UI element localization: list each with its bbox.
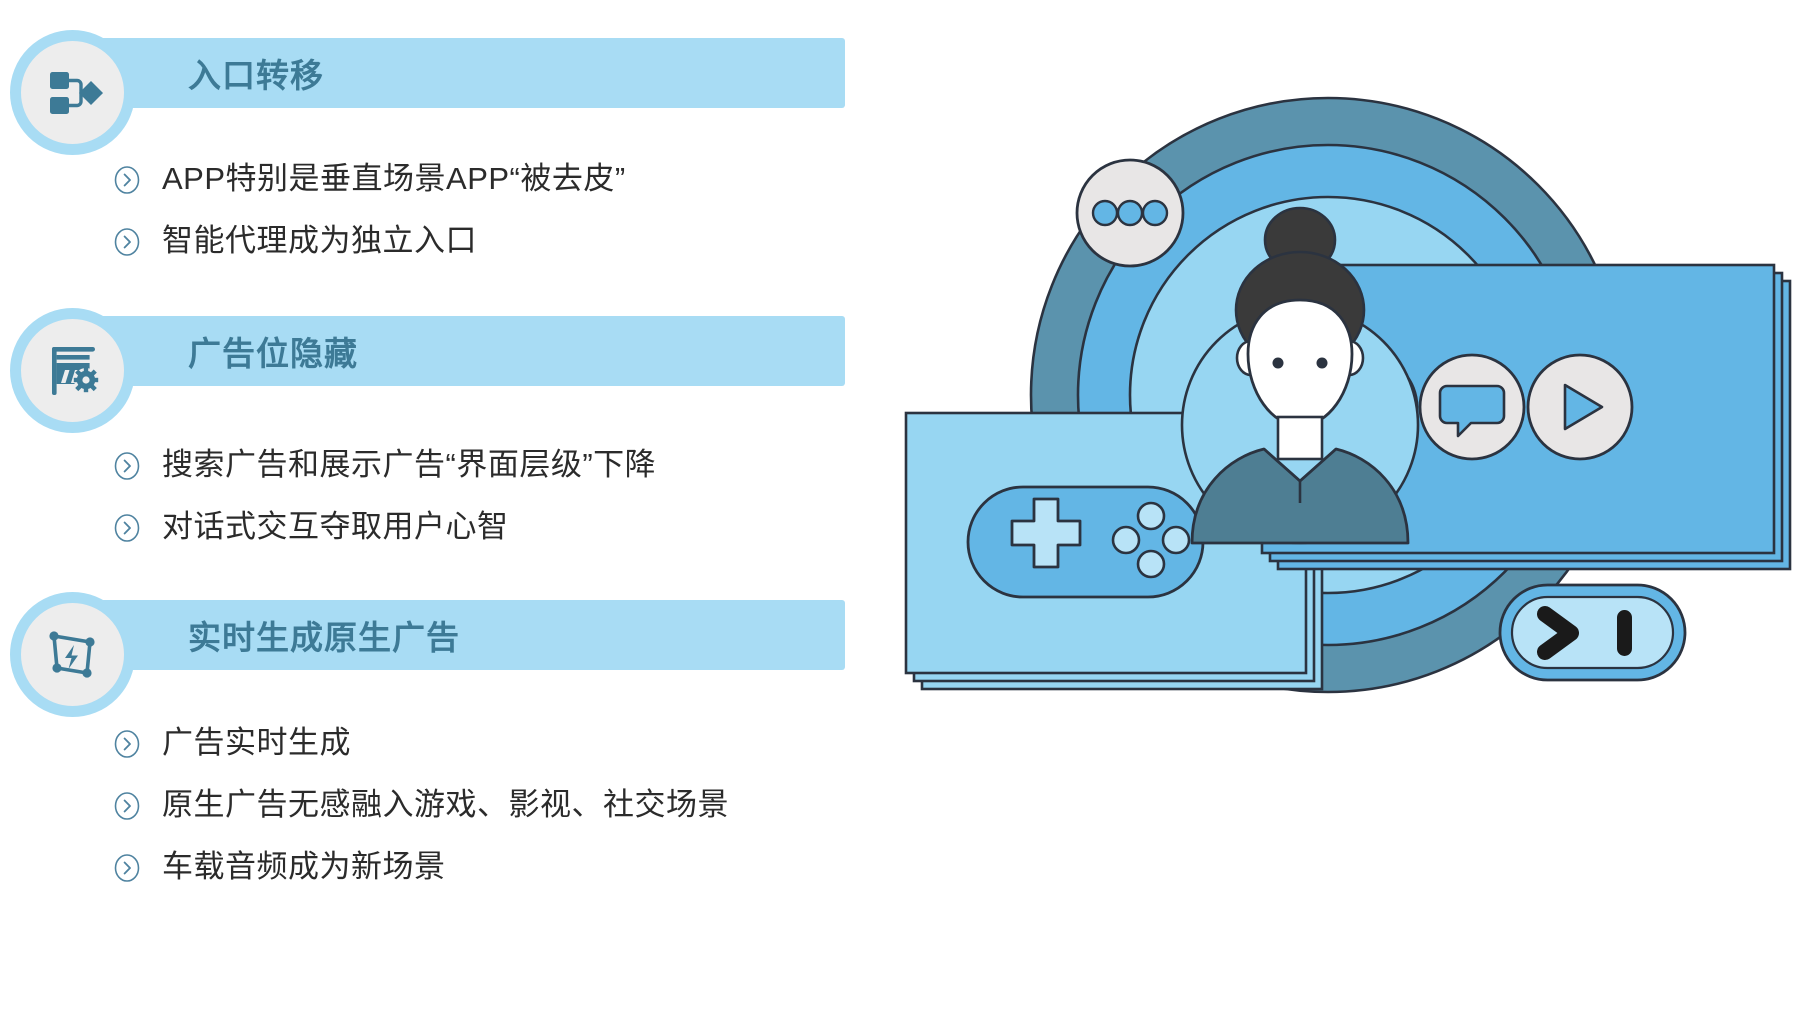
bullet-list: 广告实时生成 原生广告无感融入游戏、影视、社交场景: [0, 712, 900, 898]
section-realtime-native-ads: 实时生成原生广告 广告实时生成: [0, 592, 900, 678]
chevron-right-circle-icon: [112, 791, 142, 821]
section-header: 实时生成原生广告: [0, 592, 900, 678]
list-item: 广告实时生成: [0, 712, 900, 774]
typing-bubble-icon: [1077, 160, 1183, 266]
chevron-right-circle-icon: [112, 451, 142, 481]
comment-bubble-icon: [1420, 355, 1524, 459]
chevron-right-circle-icon: [112, 729, 142, 759]
bullet-list: 搜索广告和展示广告“界面层级”下降 对话式交互夺取用户心智: [0, 434, 900, 558]
list-item: 对话式交互夺取用户心智: [0, 496, 900, 558]
chevron-right-circle-icon: [112, 853, 142, 883]
flow-transfer-icon: [10, 30, 135, 155]
section-header-bar: [60, 316, 845, 386]
chevron-right-circle-icon: [112, 227, 142, 257]
bullet-list: APP特别是垂直场景APP“被去皮” 智能代理成为独立入口: [0, 148, 900, 272]
list-item: 智能代理成为独立入口: [0, 210, 900, 272]
section-header: 入口转移: [0, 30, 900, 116]
chevron-right-circle-icon: [112, 513, 142, 543]
section-header-bar: [60, 38, 845, 108]
list-item: 搜索广告和展示广告“界面层级”下降: [0, 434, 900, 496]
list-item: APP特别是垂直场景APP“被去皮”: [0, 148, 900, 210]
list-item-label: 原生广告无感融入游戏、影视、社交场景: [162, 788, 729, 822]
list-item-label: 对话式交互夺取用户心智: [162, 510, 509, 544]
list-item-label: 搜索广告和展示广告“界面层级”下降: [162, 448, 656, 482]
section-title: 广告位隐藏: [188, 327, 358, 375]
content-column: 入口转移 APP特别是垂直场景APP“被去皮”: [0, 0, 900, 1021]
section-title: 实时生成原生广告: [188, 611, 460, 659]
game-controller-icon: [968, 487, 1203, 597]
node-bolt-icon: [10, 592, 135, 717]
slide-root: 入口转移 APP特别是垂直场景APP“被去皮”: [0, 0, 1796, 1021]
section-header: 广告位隐藏: [0, 308, 900, 394]
user-media-engagement-illustration: [880, 95, 1796, 735]
section-ad-slot-hidden: 广告位隐藏 搜索广告和展示广告“界面层级”下降: [0, 308, 900, 394]
list-item-label: APP特别是垂直场景APP“被去皮”: [162, 162, 626, 196]
skip-forward-button: [1500, 585, 1685, 680]
list-item-label: 智能代理成为独立入口: [162, 224, 477, 258]
play-icon: [1528, 355, 1632, 459]
list-item-label: 广告实时生成: [162, 726, 351, 760]
list-item: 原生广告无感融入游戏、影视、社交场景: [0, 774, 900, 836]
section-entry-transfer: 入口转移 APP特别是垂直场景APP“被去皮”: [0, 30, 900, 116]
list-item: 车载音频成为新场景: [0, 836, 900, 898]
billboard-gear-icon: [10, 308, 135, 433]
chevron-right-circle-icon: [112, 165, 142, 195]
section-title: 入口转移: [188, 49, 324, 97]
list-item-label: 车载音频成为新场景: [162, 850, 446, 884]
